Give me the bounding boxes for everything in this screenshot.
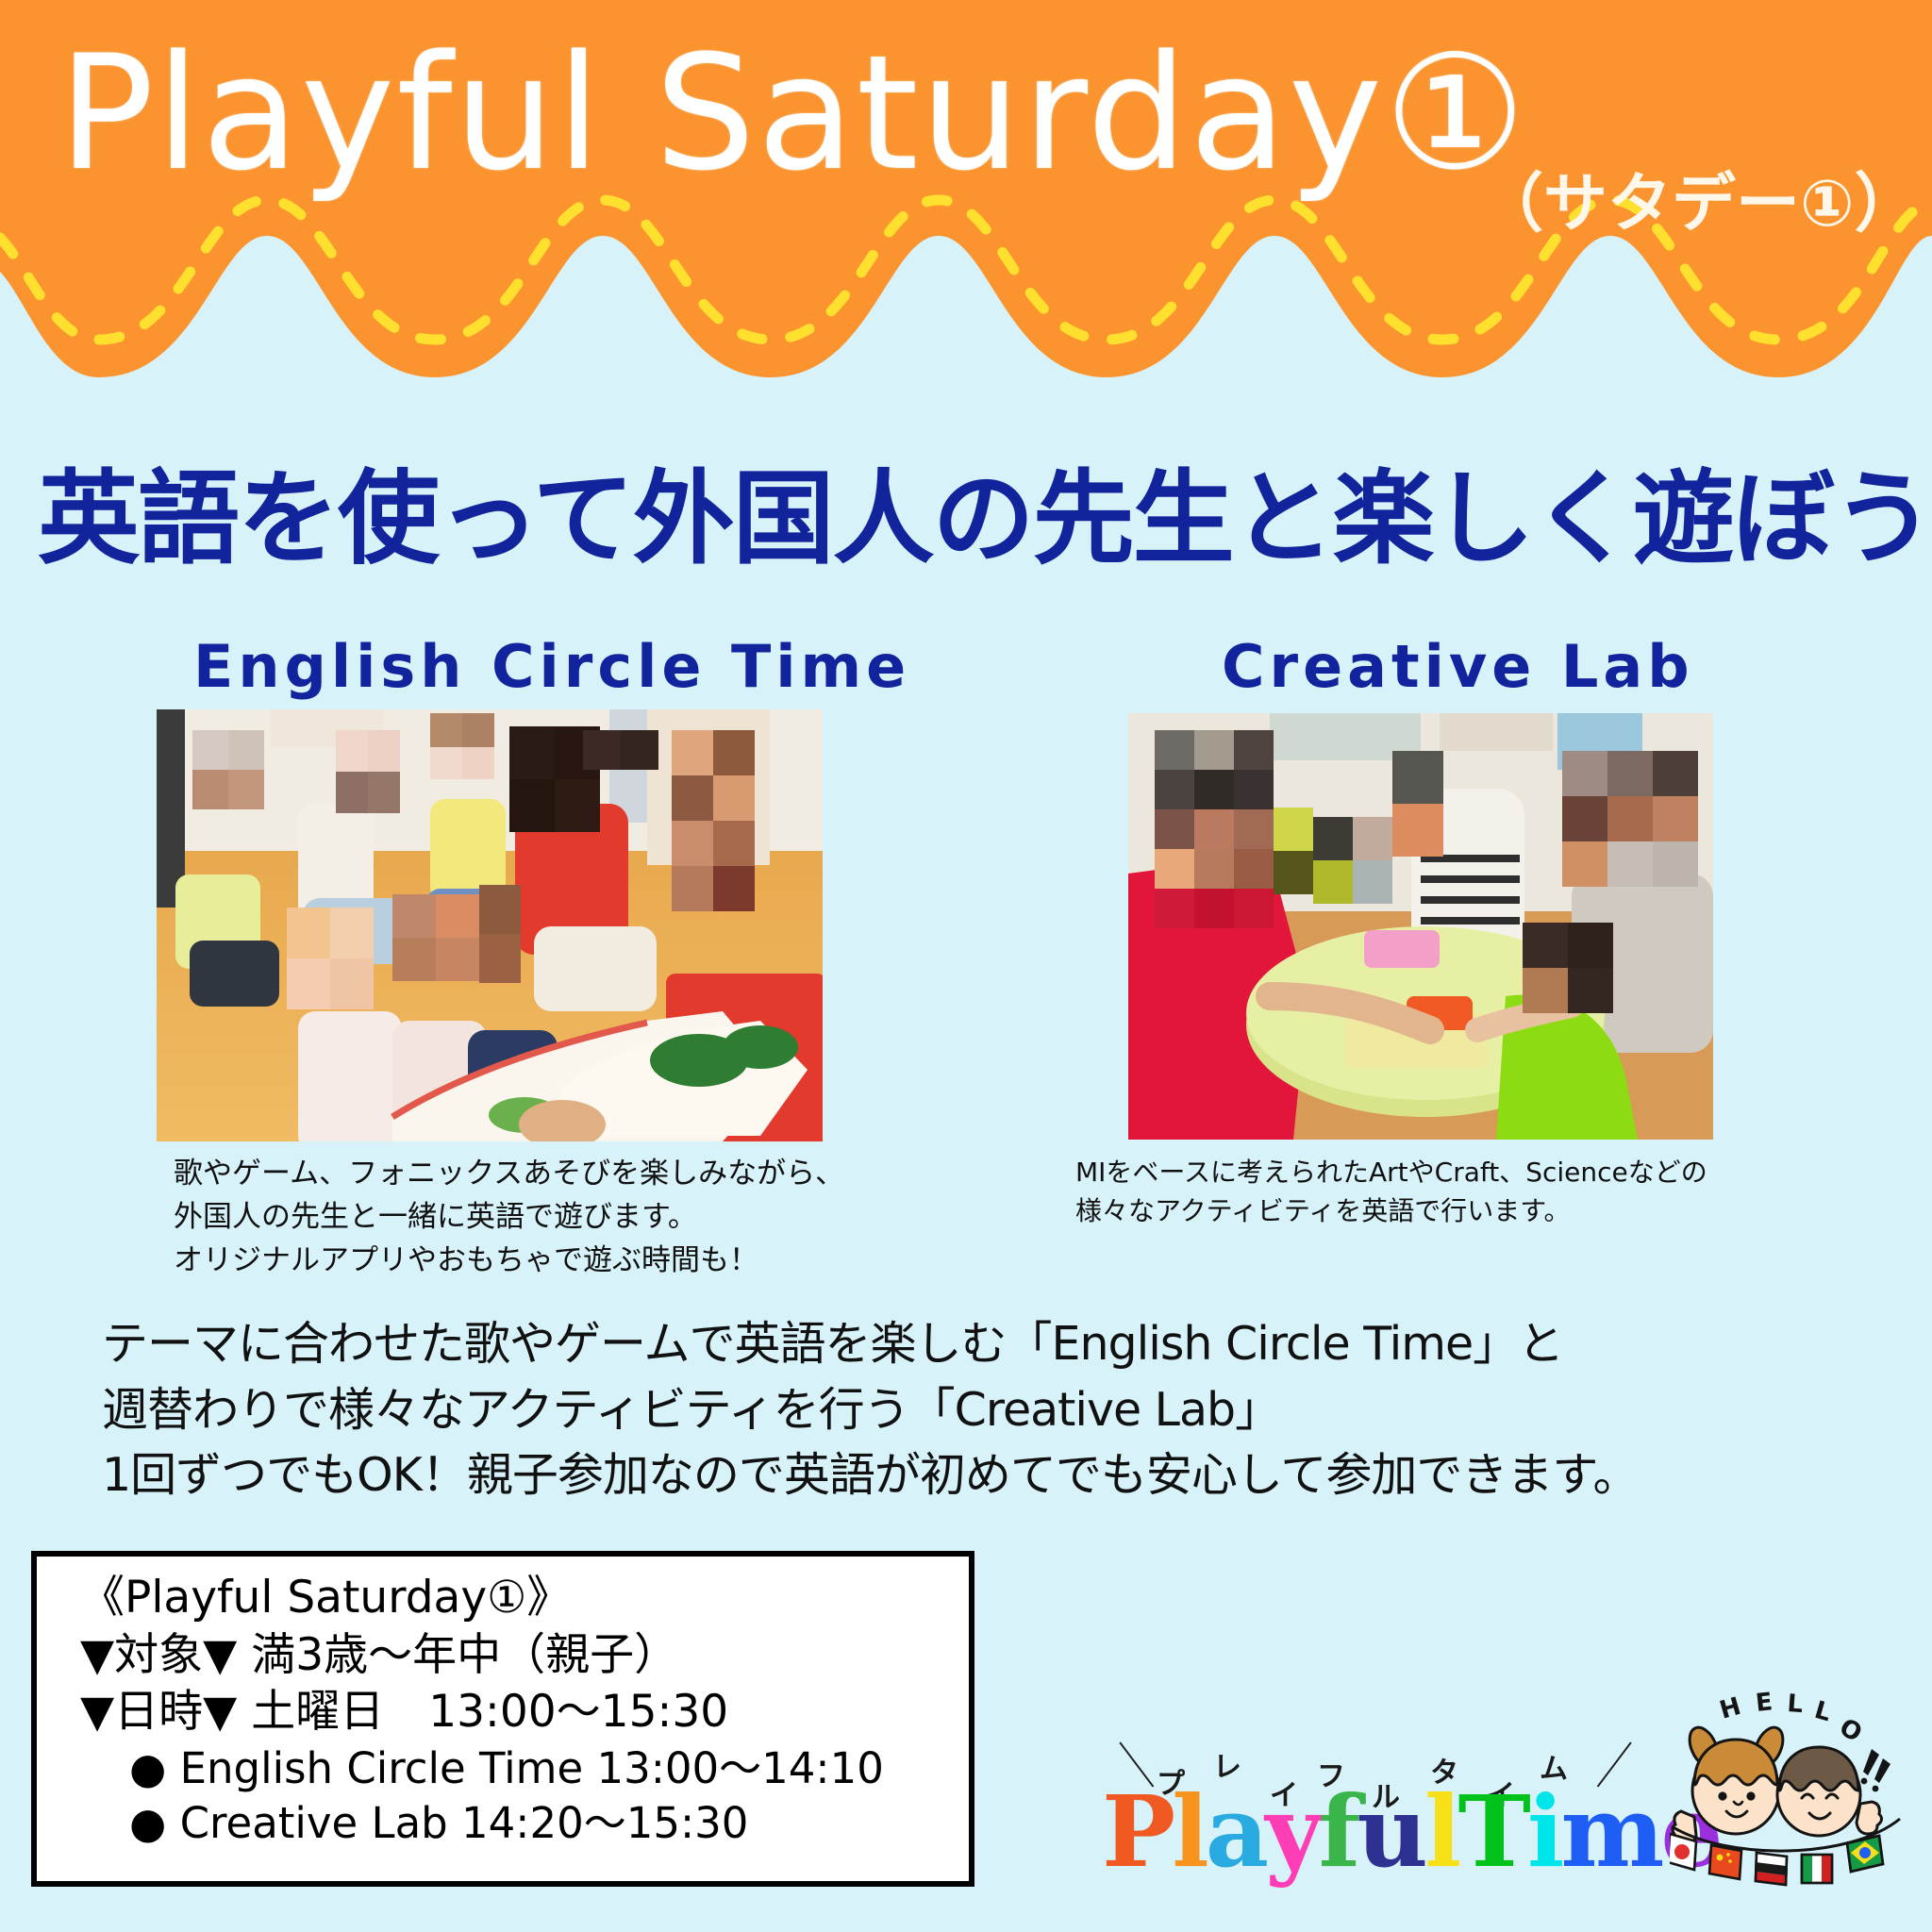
poster-root: Playful Saturday① （サタデー①） 英語を使って外国人の先生と楽… — [0, 0, 1932, 1932]
svg-text:L: L — [1811, 1696, 1834, 1727]
info-line-target-audience: ▼対象▼ 満3歳〜年中（親子） — [80, 1627, 969, 1685]
schedule-info-box: 《Playful Saturday①》 ▼対象▼ 満3歳〜年中（親子） ▼日時▼… — [31, 1551, 974, 1887]
photo-english-circle-time-mosaic — [157, 709, 823, 1141]
logo-letter-0: P — [1102, 1783, 1172, 1881]
logo-letter-6: l — [1424, 1783, 1458, 1881]
logo-wordmark: PlayfulTime — [1102, 1783, 1720, 1881]
info-line-english-circle-time-slot: ● English Circle Time 13:00〜14:10 — [80, 1741, 969, 1796]
flag-brazil — [1847, 1836, 1883, 1872]
caption-creative-lab: MIをベースに考えられたArtやCraft、Scienceなどの 様々なアクティ… — [1075, 1153, 1707, 1231]
info-line-program-name: 《Playful Saturday①》 — [80, 1570, 969, 1627]
flag-china — [1709, 1845, 1741, 1879]
section-title-english-circle-time: English Circle Time — [193, 632, 910, 701]
poster-subtitle: （サタデー①） — [1479, 151, 1919, 244]
photo-english-circle-time — [157, 709, 823, 1141]
brand-logo: ＼ プ レ イ フ ル タ イ ム ／ PlayfulTime — [1058, 1728, 1719, 1907]
hello-kids-illustration: H E L L O — [1670, 1685, 1923, 1921]
info-line-creative-lab-slot: ● Creative Lab 14:20〜15:30 — [80, 1796, 969, 1851]
svg-text:L: L — [1787, 1690, 1805, 1719]
svg-text:E: E — [1755, 1688, 1774, 1718]
info-line-datetime: ▼日時▼ 土曜日 13:00〜15:30 — [80, 1684, 969, 1741]
logo-letter-8: i — [1527, 1783, 1561, 1881]
photo-creative-lab-mosaic — [1128, 713, 1713, 1140]
hello-kids-icon: H E L L O — [1670, 1685, 1923, 1921]
logo-letter-5: u — [1357, 1783, 1424, 1881]
logo-letter-1: l — [1172, 1783, 1206, 1881]
flag-japan — [1670, 1834, 1696, 1870]
logo-letter-7: T — [1457, 1783, 1526, 1881]
main-heading: 英語を使って外国人の先生と楽しく遊ぼう！ — [38, 464, 1894, 576]
logo-letter-9: m — [1560, 1783, 1660, 1881]
header-banner: Playful Saturday① （サタデー①） — [0, 0, 1932, 415]
svg-text:H: H — [1717, 1692, 1744, 1725]
logo-letter-3: y — [1265, 1783, 1318, 1881]
logo-letter-2: a — [1206, 1783, 1265, 1881]
section-title-creative-lab: Creative Lab — [1222, 632, 1694, 701]
caption-english-circle-time: 歌やゲーム、フォニックスあそびを楽しみながら、 外国人の先生と一緒に英語で遊びま… — [174, 1153, 844, 1283]
poster-title: Playful Saturday① — [58, 30, 1528, 196]
flag-italy — [1802, 1855, 1832, 1883]
photo-creative-lab — [1128, 713, 1713, 1140]
body-paragraph: テーマに合わせた歌やゲームで英語を楽しむ「English Circle Time… — [102, 1311, 1639, 1508]
logo-letter-4: f — [1319, 1783, 1357, 1881]
flag-germany — [1756, 1853, 1787, 1885]
svg-text:O: O — [1835, 1713, 1867, 1748]
